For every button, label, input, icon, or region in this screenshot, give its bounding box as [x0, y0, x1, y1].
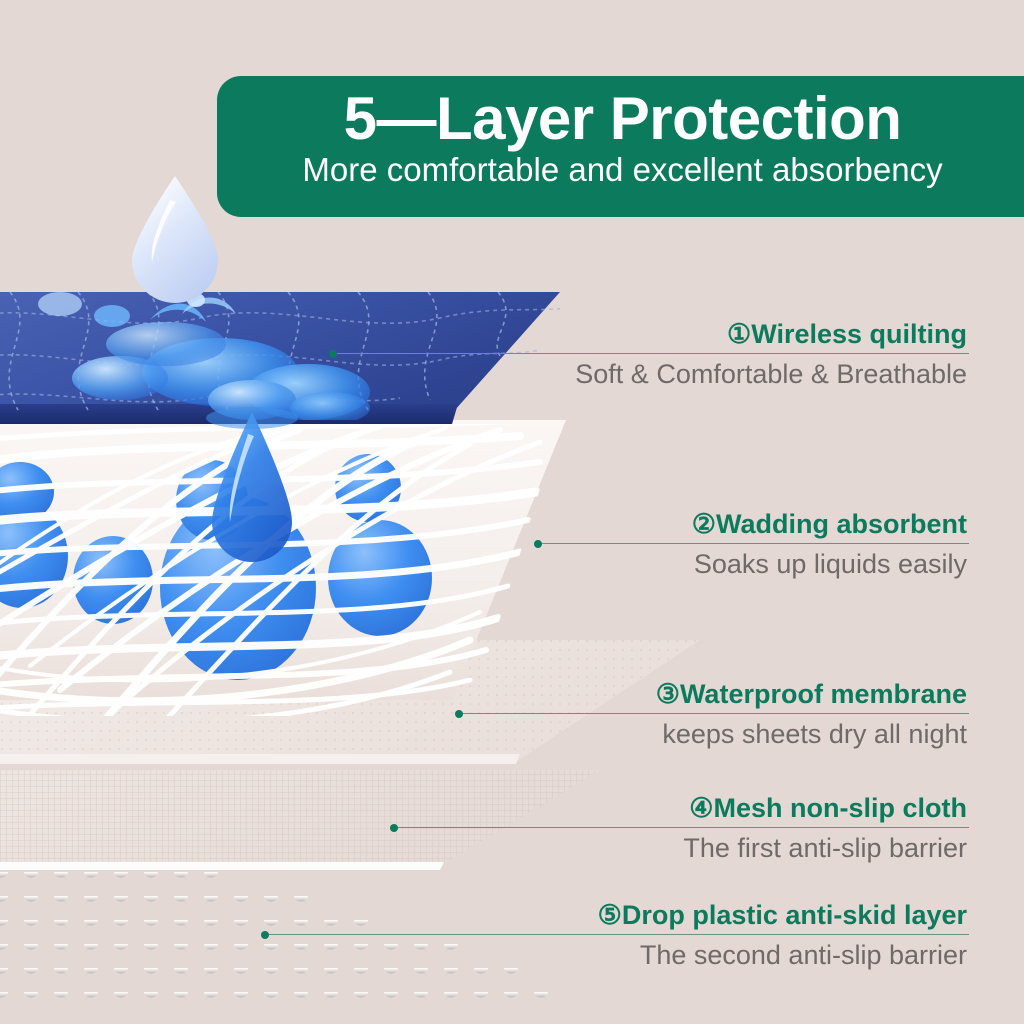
callout-layer-3: ③Waterproof membrane keeps sheets dry al…	[459, 678, 969, 751]
callout-layer-4: ④Mesh non-slip cloth The first anti-slip…	[394, 792, 969, 865]
callout-subtitle-1: Soft & Comfortable & Breathable	[333, 357, 969, 391]
callout-number-2: ②	[692, 509, 716, 539]
callout-title-3: ③Waterproof membrane	[459, 678, 969, 710]
callout-label-1: Wireless quilting	[751, 319, 967, 349]
callout-subtitle-5: The second anti-slip barrier	[265, 938, 969, 972]
callout-number-1: ①	[727, 319, 751, 349]
callout-title-1: ①Wireless quilting	[333, 318, 969, 350]
callout-label-5: Drop plastic anti-skid layer	[622, 900, 967, 930]
callout-number-5: ⑤	[598, 900, 622, 930]
callout-number-3: ③	[656, 679, 680, 709]
callout-subtitle-4: The first anti-slip barrier	[394, 831, 969, 865]
callout-title-2: ②Wadding absorbent	[538, 508, 969, 540]
callout-layer-5: ⑤Drop plastic anti-skid layer The second…	[265, 899, 969, 972]
callout-label-4: Mesh non-slip cloth	[714, 793, 968, 823]
callout-layer-1: ①Wireless quilting Soft & Comfortable & …	[333, 318, 969, 391]
callout-number-4: ④	[689, 793, 713, 823]
callout-label-3: Waterproof membrane	[680, 679, 967, 709]
callout-label-2: Wadding absorbent	[716, 509, 967, 539]
leader-dot-2	[534, 540, 542, 548]
callout-title-4: ④Mesh non-slip cloth	[394, 792, 969, 824]
infographic-canvas: 5—Layer Protection More comfortable and …	[0, 0, 1024, 1024]
leader-dot-3	[455, 710, 463, 718]
banner-title: 5—Layer Protection	[235, 86, 1010, 152]
leader-line-4	[394, 827, 969, 828]
leader-line-5	[265, 934, 969, 935]
leader-dot-4	[390, 824, 398, 832]
callout-title-5: ⑤Drop plastic anti-skid layer	[265, 899, 969, 931]
leader-line-2	[538, 543, 969, 544]
callout-subtitle-3: keeps sheets dry all night	[459, 717, 969, 751]
banner-subtitle: More comfortable and excellent absorbenc…	[235, 150, 1010, 190]
callout-layer-2: ②Wadding absorbent Soaks up liquids easi…	[538, 508, 969, 581]
leader-dot-5	[261, 931, 269, 939]
header-banner: 5—Layer Protection More comfortable and …	[217, 76, 1024, 217]
leader-line-3	[459, 713, 969, 714]
callout-subtitle-2: Soaks up liquids easily	[538, 547, 969, 581]
leader-dot-1	[329, 350, 337, 358]
leader-line-1	[333, 353, 969, 354]
